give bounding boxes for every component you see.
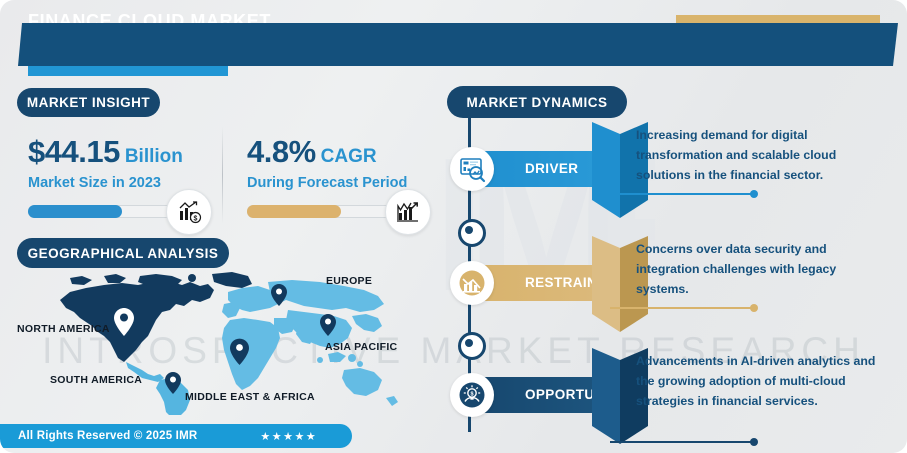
- stat-progress-fill: [247, 205, 341, 218]
- stat-progress-bar: $: [28, 205, 182, 218]
- restraint-underline: [610, 307, 755, 309]
- driver-description: Increasing demand for digital transforma…: [636, 125, 886, 185]
- timeline-node: [458, 219, 486, 247]
- stat-progress-bar: [247, 205, 401, 218]
- section-label-market-insight: MARKET INSIGHT: [17, 88, 160, 117]
- restraint-description: Concerns over data security and integrat…: [636, 239, 886, 299]
- driver-underline: [610, 193, 755, 195]
- opportunity-underline-dot: [750, 438, 758, 446]
- gold-accent-bar: [676, 15, 880, 24]
- opportunity-underline: [610, 441, 755, 443]
- map-label-europe: EUROPE: [326, 275, 372, 287]
- map-label-south-america: SOUTH AMERICA: [50, 374, 142, 386]
- lightbulb-idea-icon: $: [450, 373, 494, 417]
- bar-chart-dollar-icon: $: [166, 189, 212, 235]
- svg-text:$: $: [194, 216, 198, 223]
- stat-unit: CAGR: [321, 146, 377, 167]
- stats-divider: [222, 126, 223, 224]
- stat-unit: Billion: [125, 146, 183, 167]
- footer-bar: All Rights Reserved © 2025 IMR ★★★★★: [0, 424, 352, 448]
- stat-value: $44.15: [28, 134, 120, 169]
- bar-chart-decline-icon: [450, 261, 494, 305]
- svg-text:$: $: [470, 391, 473, 397]
- infographic-root: I M R INTROSPECTIVE MARKET RESEARCH FINA…: [0, 0, 907, 453]
- stat-value: 4.8%: [247, 134, 316, 169]
- timeline-node: [458, 332, 486, 360]
- copyright-text: All Rights Reserved © 2025 IMR: [18, 430, 197, 442]
- growth-chart-arrow-icon: [385, 189, 431, 235]
- map-label-asia-pacific: ASIA PACIFIC: [325, 341, 397, 353]
- stat-subtitle: During Forecast Period: [247, 175, 407, 191]
- map-label-north-america: NORTH AMERICA: [17, 323, 110, 335]
- driver-label: DRIVER: [525, 151, 578, 187]
- driver-underline-dot: [750, 190, 758, 198]
- title-banner: [18, 23, 898, 66]
- magnifier-chart-icon: [450, 147, 494, 191]
- stat-cagr: 4.8%CAGR During Forecast Period: [247, 134, 407, 218]
- map-label-middle-east-africa: MIDDLE EAST & AFRICA: [185, 391, 315, 403]
- section-label-geographical-analysis: GEOGRAPHICAL ANALYSIS: [17, 238, 229, 268]
- rating-stars: ★★★★★: [260, 430, 317, 443]
- title-underline-accent: [28, 66, 228, 76]
- restraint-underline-dot: [750, 304, 758, 312]
- opportunity-description: Advancements in AI-driven analytics and …: [636, 351, 886, 411]
- stat-market-size: $44.15Billion Market Size in 2023 $: [28, 134, 183, 218]
- stat-progress-fill: [28, 205, 122, 218]
- stat-subtitle: Market Size in 2023: [28, 175, 183, 191]
- section-label-market-dynamics: MARKET DYNAMICS: [447, 86, 627, 118]
